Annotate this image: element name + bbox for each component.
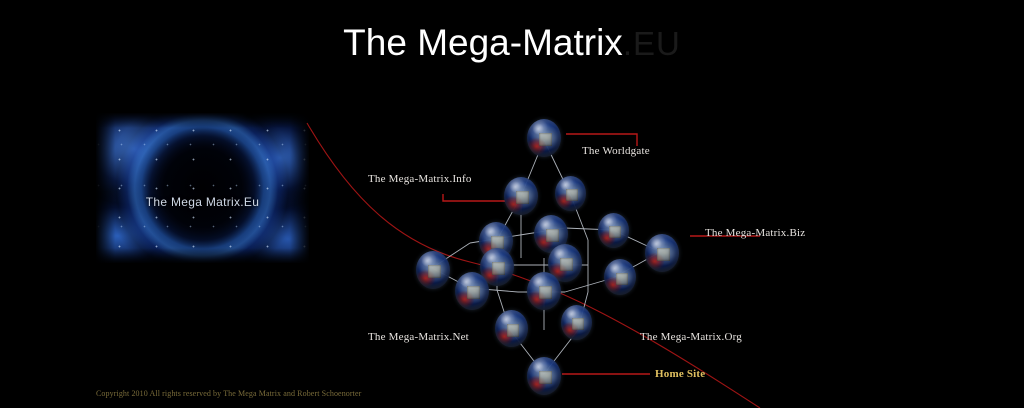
node-sphere[interactable]	[561, 305, 592, 340]
mega-matrix-eu-image: The Mega Matrix.Eu	[96, 113, 309, 263]
callout-label-worldgate[interactable]: The Worldgate	[582, 145, 650, 157]
callout-label-biz[interactable]: The Mega-Matrix.Biz	[705, 227, 805, 239]
nebula-vignette	[96, 113, 309, 263]
sphere-panel	[616, 273, 628, 285]
page-title-suffix: .EU	[623, 25, 681, 62]
page-title: The Mega-Matrix.EU	[0, 22, 1024, 64]
node-sphere[interactable]	[555, 176, 586, 211]
node-sphere[interactable]	[598, 213, 629, 248]
node-sphere[interactable]	[455, 272, 489, 310]
leader-info	[443, 194, 509, 201]
sphere-panel	[546, 229, 559, 242]
sphere-panel	[560, 258, 573, 271]
callout-label-net[interactable]: The Mega-Matrix.Net	[368, 331, 469, 343]
sphere-panel	[539, 371, 552, 384]
sphere-panel	[609, 226, 621, 238]
page-title-main: The Mega-Matrix	[343, 22, 623, 63]
node-sphere[interactable]	[416, 251, 450, 289]
sphere-panel	[539, 133, 552, 146]
sphere-panel	[516, 191, 529, 204]
sphere-panel	[657, 248, 670, 261]
node-sphere[interactable]	[645, 234, 679, 272]
sphere-panel	[539, 286, 552, 299]
sphere-panel	[492, 262, 505, 275]
sphere-panel	[566, 189, 578, 201]
node-sphere[interactable]	[504, 177, 538, 215]
node-sphere[interactable]	[527, 119, 561, 157]
node-sphere[interactable]	[604, 259, 636, 295]
slide-canvas: The Mega-Matrix.EU The Mega Matrix.Eu	[0, 0, 1024, 408]
sphere-panel	[507, 324, 520, 337]
node-sphere[interactable]	[527, 357, 561, 395]
callout-label-home-site[interactable]: Home Site	[655, 368, 705, 380]
sphere-panel	[428, 265, 441, 278]
node-sphere[interactable]	[527, 272, 561, 310]
callout-label-org[interactable]: The Mega-Matrix.Org	[640, 331, 742, 343]
sphere-panel	[467, 286, 480, 299]
hero-caption: The Mega Matrix.Eu	[96, 195, 309, 209]
sphere-panel	[572, 318, 584, 330]
node-sphere[interactable]	[495, 310, 528, 347]
callout-label-info[interactable]: The Mega-Matrix.Info	[368, 173, 472, 185]
copyright-notice: Copyright 2010 All rights reserved by Th…	[96, 389, 361, 398]
